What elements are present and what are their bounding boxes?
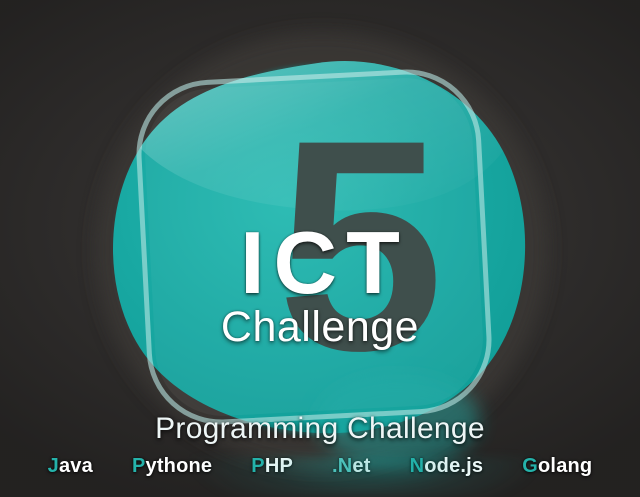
language-initial: P: [251, 455, 265, 477]
language-rest: ava: [59, 455, 93, 477]
language-item-java: Java: [48, 455, 93, 478]
language-initial: .N: [332, 455, 352, 477]
language-rest: olang: [538, 455, 592, 477]
language-item-golang: Golang: [522, 455, 592, 478]
language-item-nodejs: Node.js: [410, 455, 484, 478]
language-rest: ode.js: [424, 455, 483, 477]
language-rest: ythone: [146, 455, 213, 477]
language-rest: et: [352, 455, 370, 477]
tagline: Programming Challenge: [0, 414, 640, 444]
language-item-pythone: Pythone: [132, 455, 212, 478]
language-item-php: PHP: [251, 455, 293, 478]
language-list: Java Pythone PHP .Net Node.js Golang: [0, 455, 640, 478]
language-item-dotnet: .Net: [332, 455, 371, 478]
language-initial: G: [522, 455, 538, 477]
poster-canvas: 5 ICT Challenge Programming Challenge Ja…: [0, 0, 640, 497]
language-initial: J: [48, 455, 59, 477]
language-rest: HP: [265, 455, 293, 477]
language-initial: N: [410, 455, 425, 477]
language-initial: P: [132, 455, 146, 477]
